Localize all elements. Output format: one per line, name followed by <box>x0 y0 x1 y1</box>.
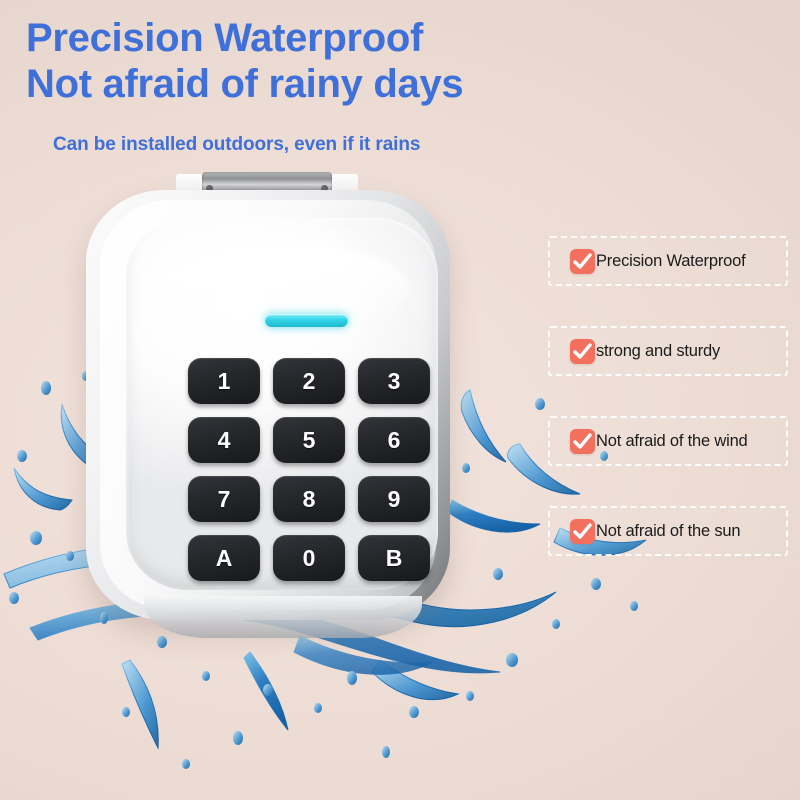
device-inner-bezel: 1 2 3 4 5 6 7 8 9 A 0 B <box>100 200 436 610</box>
feature-item-precision-waterproof[interactable]: Precision Waterproof <box>548 236 788 286</box>
promo-banner: Precision Waterproof Not afraid of rainy… <box>0 0 800 800</box>
cover-bottom-lip <box>144 596 422 638</box>
key-6[interactable]: 6 <box>358 417 430 463</box>
checkbox-checked-icon <box>570 519 595 544</box>
keypad-grid[interactable]: 1 2 3 4 5 6 7 8 9 A 0 B <box>188 358 430 581</box>
feature-list: Precision Waterproof strong and sturdy N… <box>548 236 788 556</box>
headline-line-1: Precision Waterproof <box>26 16 423 60</box>
key-2[interactable]: 2 <box>273 358 345 404</box>
key-4[interactable]: 4 <box>188 417 260 463</box>
key-9[interactable]: 9 <box>358 476 430 522</box>
checkbox-checked-icon <box>570 429 595 454</box>
key-1[interactable]: 1 <box>188 358 260 404</box>
waterproof-keypad-device: 1 2 3 4 5 6 7 8 9 A 0 B <box>80 168 456 638</box>
status-led-indicator <box>265 314 348 327</box>
key-8[interactable]: 8 <box>273 476 345 522</box>
checkbox-checked-icon <box>570 249 595 274</box>
page-subtitle: Can be installed outdoors, even if it ra… <box>53 134 420 156</box>
key-3[interactable]: 3 <box>358 358 430 404</box>
feature-label: Not afraid of the wind <box>596 432 748 451</box>
device-faceplate: 1 2 3 4 5 6 7 8 9 A 0 B <box>126 218 438 590</box>
feature-item-strong-and-sturdy[interactable]: strong and sturdy <box>548 326 788 376</box>
page-title: Precision Waterproof Not afraid of rainy… <box>26 16 646 107</box>
feature-item-not-afraid-of-the-wind[interactable]: Not afraid of the wind <box>548 416 788 466</box>
key-7[interactable]: 7 <box>188 476 260 522</box>
feature-label: Not afraid of the sun <box>596 522 740 541</box>
checkbox-checked-icon <box>570 339 595 364</box>
key-5[interactable]: 5 <box>273 417 345 463</box>
device-outer-shell: 1 2 3 4 5 6 7 8 9 A 0 B <box>86 190 450 620</box>
feature-label: Precision Waterproof <box>596 252 745 271</box>
key-0[interactable]: 0 <box>273 535 345 581</box>
headline-line-2: Not afraid of rainy days <box>26 62 646 108</box>
key-a[interactable]: A <box>188 535 260 581</box>
key-b[interactable]: B <box>358 535 430 581</box>
feature-item-not-afraid-of-the-sun[interactable]: Not afraid of the sun <box>548 506 788 556</box>
feature-label: strong and sturdy <box>596 342 720 361</box>
